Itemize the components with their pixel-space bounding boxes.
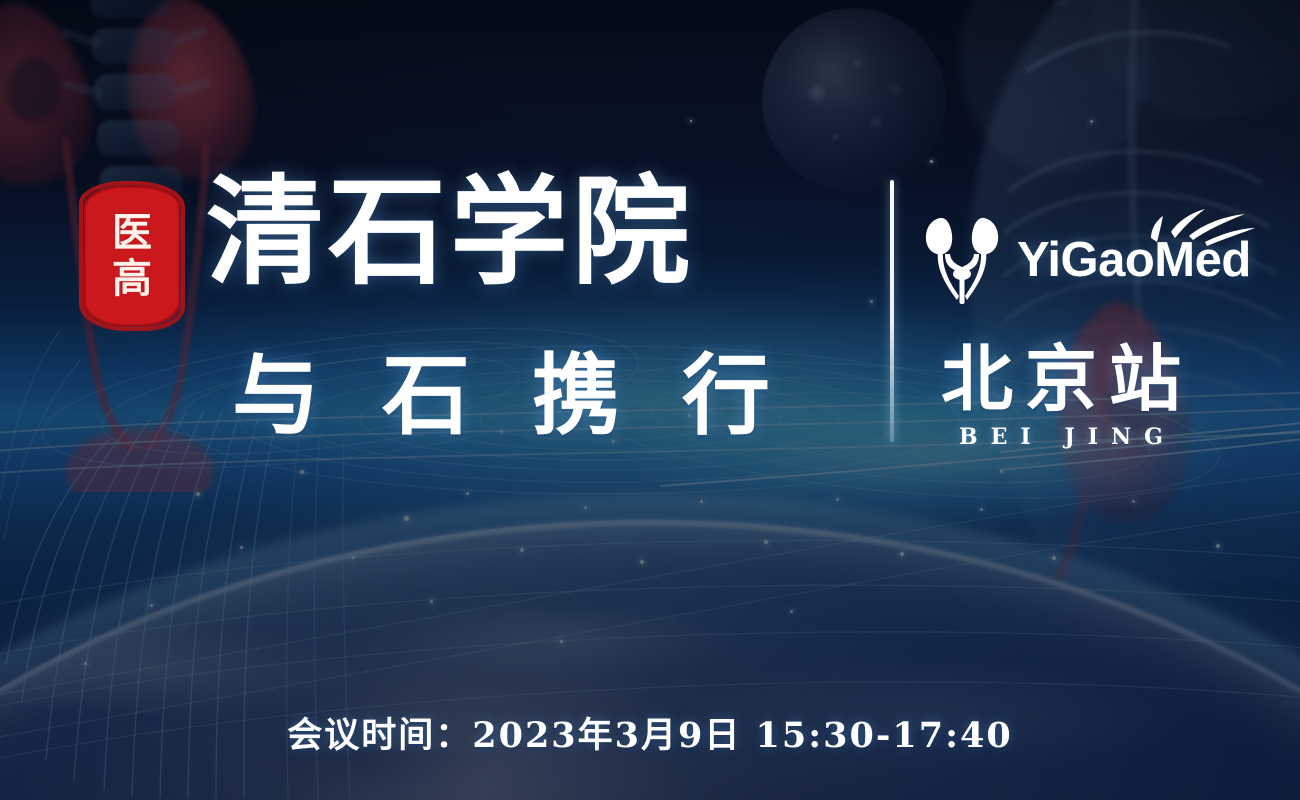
page-title: 清石学院 xyxy=(206,174,694,292)
swoosh-accent-icon xyxy=(1145,206,1255,246)
page-subtitle: 与石携行 xyxy=(232,352,832,440)
seal-characters: 医 高 xyxy=(84,186,180,326)
kidney-urinary-tract-icon xyxy=(925,214,999,306)
city-name-en: BEI JING xyxy=(920,424,1202,450)
city-name-cn: 北京站 xyxy=(920,344,1202,416)
brand-wordmark-container: YiGaoMed xyxy=(1017,236,1251,285)
seal-char-top: 医 xyxy=(112,213,152,253)
brand-lockup: YiGaoMed xyxy=(925,214,1251,306)
vertical-divider xyxy=(890,180,894,442)
meeting-time: 会议时间：2023年3月9日 15:30-17:40 xyxy=(0,707,1300,758)
red-seal-stamp: 医 高 xyxy=(84,186,180,326)
conference-poster: 医 高 清石学院 与石携行 xyxy=(0,0,1300,800)
city-block: 北京站 BEI JING xyxy=(920,344,1202,450)
seal-char-bottom: 高 xyxy=(112,259,152,299)
